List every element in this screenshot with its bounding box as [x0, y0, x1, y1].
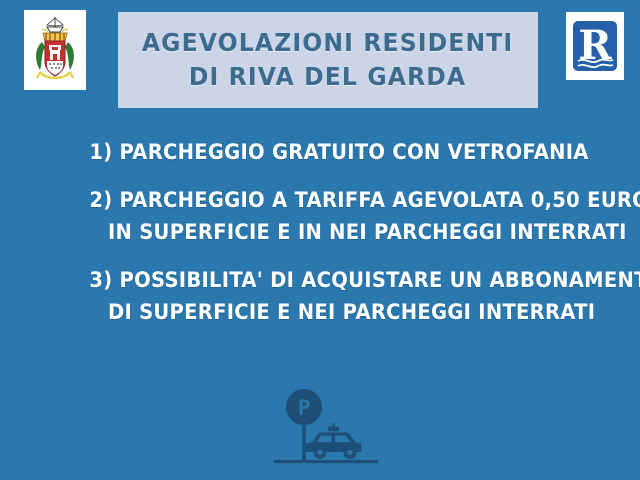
list-item-line: IN SUPERFICIE E IN NEI PARCHEGGI INTERRA…: [22, 216, 617, 248]
poster-header: AGEVOLAZIONI RESIDENTI DI RIVA DEL GARDA…: [0, 0, 640, 112]
coat-of-arms-icon: [24, 10, 86, 90]
list-item: 1) PARCHEGGIO GRATUITO CON VETROFANIA: [0, 136, 640, 168]
brand-logo-icon: R: [566, 12, 624, 80]
parking-sign-with-car-icon: [268, 386, 388, 472]
list-item-line: DI SUPERFICIE E NEI PARCHEGGI INTERRATI: [22, 296, 617, 328]
list-item-line: 1) PARCHEGGIO GRATUITO CON VETROFANIA: [22, 136, 617, 168]
benefits-list: 1) PARCHEGGIO GRATUITO CON VETROFANIA 2)…: [0, 136, 640, 344]
poster-title-line-2: DI RIVA DEL GARDA: [189, 61, 466, 93]
list-item-line: 3) POSSIBILITA' DI ACQUISTARE UN ABBONAM…: [22, 264, 617, 296]
poster: AGEVOLAZIONI RESIDENTI DI RIVA DEL GARDA…: [0, 0, 640, 480]
list-item: 2) PARCHEGGIO A TARIFFA AGEVOLATA 0,50 E…: [0, 184, 640, 248]
list-item: 3) POSSIBILITA' DI ACQUISTARE UN ABBONAM…: [0, 264, 640, 328]
list-item-line: 2) PARCHEGGIO A TARIFFA AGEVOLATA 0,50 E…: [22, 184, 617, 216]
title-banner: AGEVOLAZIONI RESIDENTI DI RIVA DEL GARDA: [118, 12, 538, 108]
poster-title-line-1: AGEVOLAZIONI RESIDENTI: [142, 27, 513, 59]
